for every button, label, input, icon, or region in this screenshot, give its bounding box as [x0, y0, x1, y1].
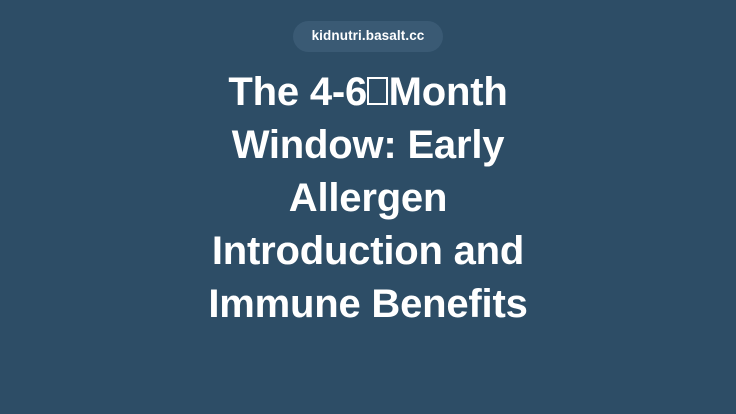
title-container: The 4-6Month Window: Early Allergen Intr…: [178, 66, 558, 331]
title-text-before-glyph: The 4-6: [228, 70, 367, 114]
site-domain-badge: kidnutri.basalt.cc: [293, 21, 444, 52]
page-title: The 4-6Month Window: Early Allergen Intr…: [178, 66, 558, 331]
tofu-missing-character-box-icon: [367, 77, 388, 105]
title-card: kidnutri.basalt.cc The 4-6Month Window: …: [0, 0, 736, 414]
